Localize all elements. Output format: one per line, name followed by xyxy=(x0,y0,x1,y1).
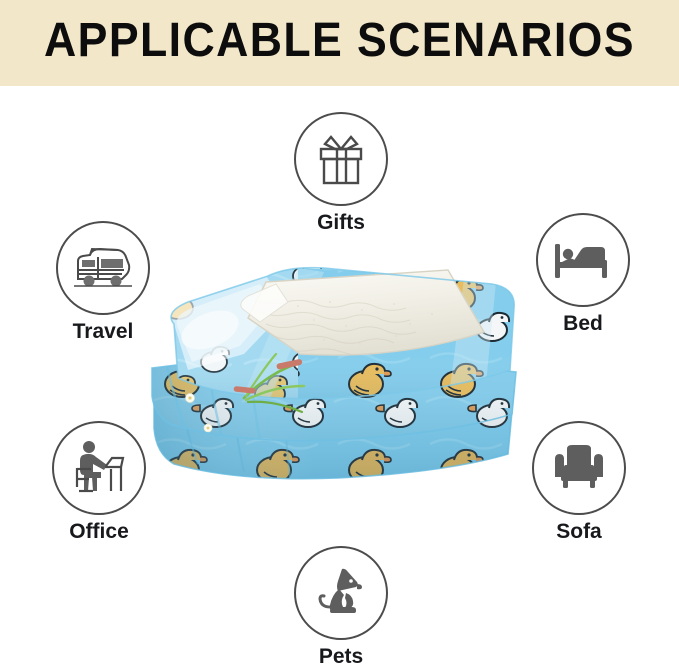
product-image xyxy=(148,258,520,510)
scenario-bed-circle xyxy=(536,213,630,307)
scenario-pets-circle xyxy=(294,546,388,640)
header-banner: APPLICABLE SCENARIOS xyxy=(0,0,679,86)
page-title: APPLICABLE SCENARIOS xyxy=(24,14,655,68)
scenario-pets-label: Pets xyxy=(281,644,401,670)
scenario-sofa-label: Sofa xyxy=(519,519,639,545)
camper-van-icon xyxy=(72,241,134,295)
armchair-icon xyxy=(551,443,607,493)
gift-icon xyxy=(313,131,369,187)
dog-icon xyxy=(312,565,370,621)
scenario-office-circle xyxy=(52,421,146,515)
scenario-office-label: Office xyxy=(39,519,159,545)
scenario-travel-label: Travel xyxy=(43,319,163,345)
scenario-gifts-label: Gifts xyxy=(281,210,401,236)
scenario-bed-label: Bed xyxy=(523,311,643,337)
scenario-office[interactable]: Office xyxy=(39,421,159,545)
scenario-pets[interactable]: Pets xyxy=(281,546,401,670)
bed-icon xyxy=(553,236,613,284)
scenario-sofa-circle xyxy=(532,421,626,515)
sherpa-panel xyxy=(248,270,484,355)
scenario-bed[interactable]: Bed xyxy=(523,213,643,337)
desk-worker-icon xyxy=(71,439,127,497)
scenario-travel[interactable]: Travel xyxy=(43,221,163,345)
scenario-gifts[interactable]: Gifts xyxy=(281,112,401,236)
scenario-gifts-circle xyxy=(294,112,388,206)
scenario-travel-circle xyxy=(56,221,150,315)
scenario-sofa[interactable]: Sofa xyxy=(519,421,639,545)
